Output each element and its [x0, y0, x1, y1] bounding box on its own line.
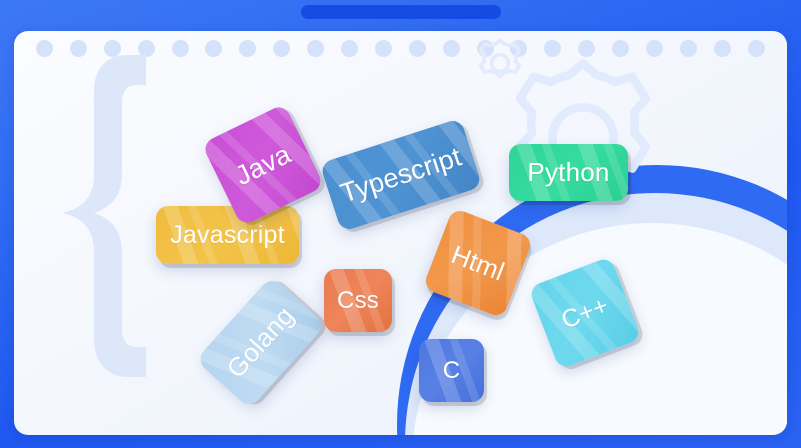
- language-tile-css[interactable]: Css: [324, 269, 392, 332]
- window-top-pill: [301, 5, 501, 19]
- language-tile-label: Java: [230, 138, 296, 191]
- dotted-header-row: [14, 40, 787, 57]
- language-tile-javascript[interactable]: Javascript: [156, 206, 299, 264]
- language-tile-label: Typescript: [337, 141, 466, 209]
- header-dot: [70, 40, 87, 57]
- illustration-stage: Golang Javascript Java Typescript Python…: [0, 0, 801, 448]
- header-dot: [375, 40, 392, 57]
- language-tile-label: C++: [557, 291, 612, 335]
- content-card: Golang Javascript Java Typescript Python…: [14, 31, 787, 435]
- language-tile-label: Python: [527, 157, 609, 188]
- header-dot: [205, 40, 222, 57]
- header-dot: [138, 40, 155, 57]
- header-dot: [409, 40, 426, 57]
- language-tile-label: Css: [337, 287, 379, 315]
- language-tile-label: C: [443, 357, 461, 385]
- language-tile-python[interactable]: Python: [509, 144, 628, 201]
- header-dot: [341, 40, 358, 57]
- language-tile-c[interactable]: C: [419, 339, 484, 402]
- header-dot: [36, 40, 53, 57]
- language-tile-label: Javascript: [170, 221, 285, 250]
- header-dot: [172, 40, 189, 57]
- header-dot: [104, 40, 121, 57]
- header-dot: [714, 40, 731, 57]
- language-tile-label: Html: [447, 239, 509, 287]
- header-dot: [443, 40, 460, 57]
- header-dot: [748, 40, 765, 57]
- gear-icon-small: [474, 37, 526, 89]
- language-tile-golang[interactable]: Golang: [196, 276, 326, 409]
- header-dot: [239, 40, 256, 57]
- language-tile-label: Golang: [221, 301, 301, 385]
- header-dot: [680, 40, 697, 57]
- header-dot: [273, 40, 290, 57]
- header-dot: [307, 40, 324, 57]
